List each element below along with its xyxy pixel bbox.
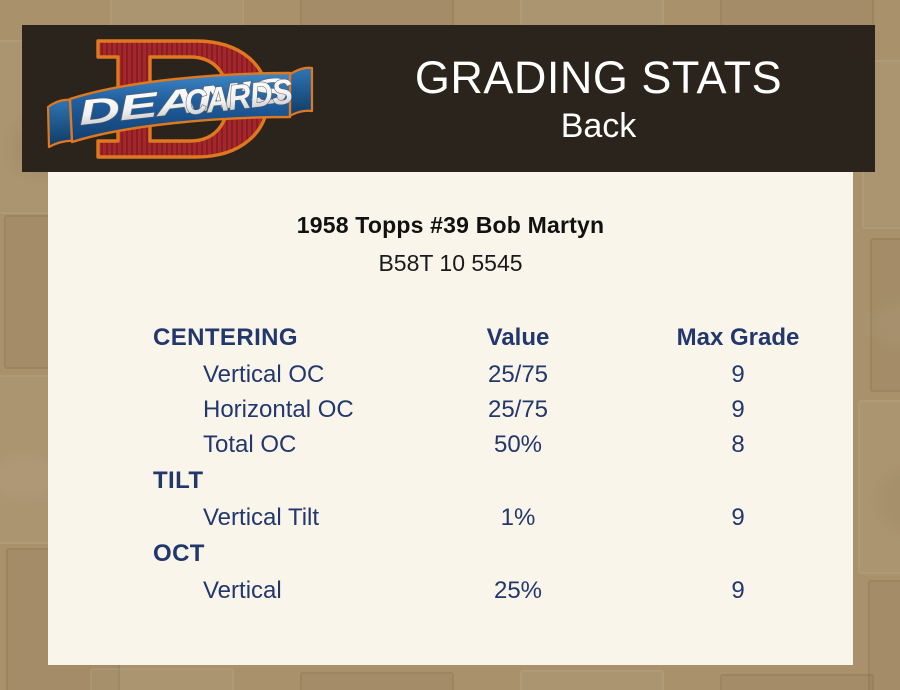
- section-spacer-value: [413, 462, 623, 500]
- deans-cards-logo[interactable]: DEAN'S CARDS: [46, 29, 314, 169]
- table-header-row: CENTERING Value Max Grade: [48, 319, 853, 357]
- section-header-tilt: TILT: [48, 462, 413, 500]
- table-row: Horizontal OC 25/75 9: [48, 392, 853, 427]
- row-value: 1%: [413, 500, 623, 535]
- row-value: 25/75: [413, 357, 623, 392]
- table-row: Vertical 25% 9: [48, 573, 853, 608]
- section-spacer-value: [413, 535, 623, 573]
- column-header-section: CENTERING: [48, 319, 413, 357]
- row-value: 50%: [413, 427, 623, 462]
- table-row: Total OC 50% 8: [48, 427, 853, 462]
- header-bar: DEAN'S CARDS GRADING STATS Back: [22, 25, 875, 172]
- page-title: GRADING STATS: [415, 52, 782, 104]
- row-max-grade: 9: [623, 500, 853, 535]
- row-max-grade: 9: [623, 357, 853, 392]
- column-header-value: Value: [413, 319, 623, 357]
- table-row: Vertical OC 25/75 9: [48, 357, 853, 392]
- row-max-grade: 8: [623, 427, 853, 462]
- row-max-grade: 9: [623, 392, 853, 427]
- column-header-max-grade: Max Grade: [623, 319, 853, 357]
- row-label: Horizontal OC: [48, 392, 413, 427]
- content-panel: 1958 Topps #39 Bob Martyn B58T 10 5545 C…: [48, 172, 853, 665]
- grading-stats-table: CENTERING Value Max Grade Vertical OC 25…: [48, 319, 853, 608]
- row-label: Vertical Tilt: [48, 500, 413, 535]
- row-max-grade: 9: [623, 573, 853, 608]
- table-body: Vertical OC 25/75 9 Horizontal OC 25/75 …: [48, 357, 853, 608]
- table-row: Vertical Tilt 1% 9: [48, 500, 853, 535]
- section-header-row: TILT: [48, 462, 853, 500]
- row-label: Vertical: [48, 573, 413, 608]
- card-title: 1958 Topps #39 Bob Martyn: [48, 212, 853, 239]
- card-code: B58T 10 5545: [48, 250, 853, 277]
- page-subtitle: Back: [561, 106, 637, 146]
- section-header-oct: OCT: [48, 535, 413, 573]
- section-spacer-grade: [623, 535, 853, 573]
- section-spacer-grade: [623, 462, 853, 500]
- row-label: Total OC: [48, 427, 413, 462]
- row-label: Vertical OC: [48, 357, 413, 392]
- row-value: 25/75: [413, 392, 623, 427]
- section-header-row: OCT: [48, 535, 853, 573]
- row-value: 25%: [413, 573, 623, 608]
- header-titles: GRADING STATS Back: [322, 25, 875, 172]
